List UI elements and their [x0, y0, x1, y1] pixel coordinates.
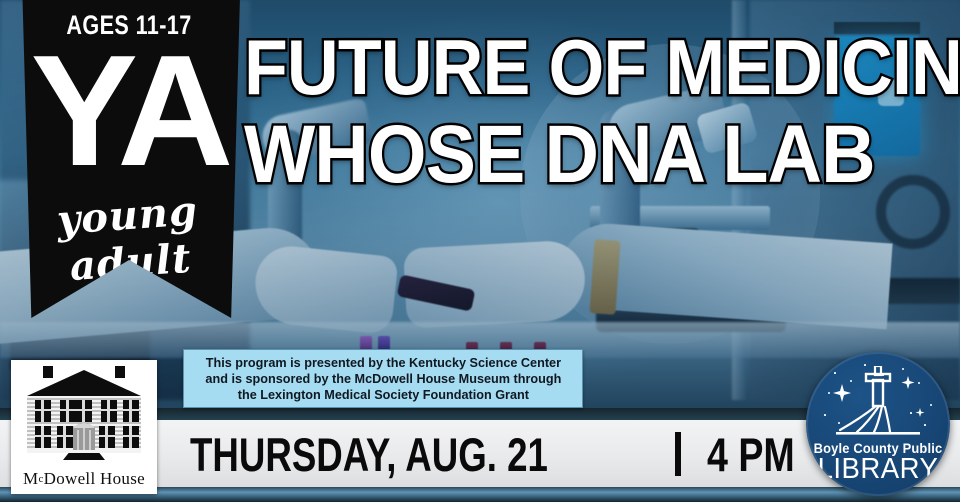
sponsor-text: This program is presented by the Kentuck…: [205, 355, 561, 403]
mcdowell-name-rest: Dowell House: [44, 469, 145, 488]
sponsor-line-3: the Lexington Medical Society Foundation…: [237, 387, 528, 402]
sponsor-box: This program is presented by the Kentuck…: [183, 349, 583, 408]
event-time: 4 PM: [707, 431, 795, 478]
sponsor-line-2: and is sponsored by the McDowell House M…: [205, 371, 561, 386]
event-title: FUTURE OF MEDICINE : WHOSE DNA LAB: [244, 20, 956, 202]
boyle-county-public-library-logo: Boyle County Public LIBRARY: [806, 352, 950, 496]
mcdowell-house-logo: McDowell House: [11, 360, 157, 494]
beacon-fountain-icon: [824, 366, 932, 444]
datetime-group: THURSDAY, AUG. 21 4 PM: [190, 424, 817, 484]
library-name-line-2: LIBRARY: [810, 455, 947, 484]
ya-initials: YA: [16, 32, 242, 190]
colonial-house-icon: [19, 366, 149, 462]
event-flyer: AGES 11-17 YA young adult FUTURE OF MEDI…: [0, 0, 960, 502]
event-date: THURSDAY, AUG. 21: [190, 431, 548, 478]
datetime-separator: [675, 432, 681, 476]
sponsor-line-1: This program is presented by the Kentuck…: [205, 355, 560, 370]
mcdowell-name-prefix: M: [23, 469, 38, 488]
event-title-line-2: WHOSE DNA LAB: [244, 108, 899, 202]
event-title-line-1: FUTURE OF MEDICINE :: [244, 20, 899, 114]
mcdowell-house-label: McDowell House: [11, 469, 157, 489]
